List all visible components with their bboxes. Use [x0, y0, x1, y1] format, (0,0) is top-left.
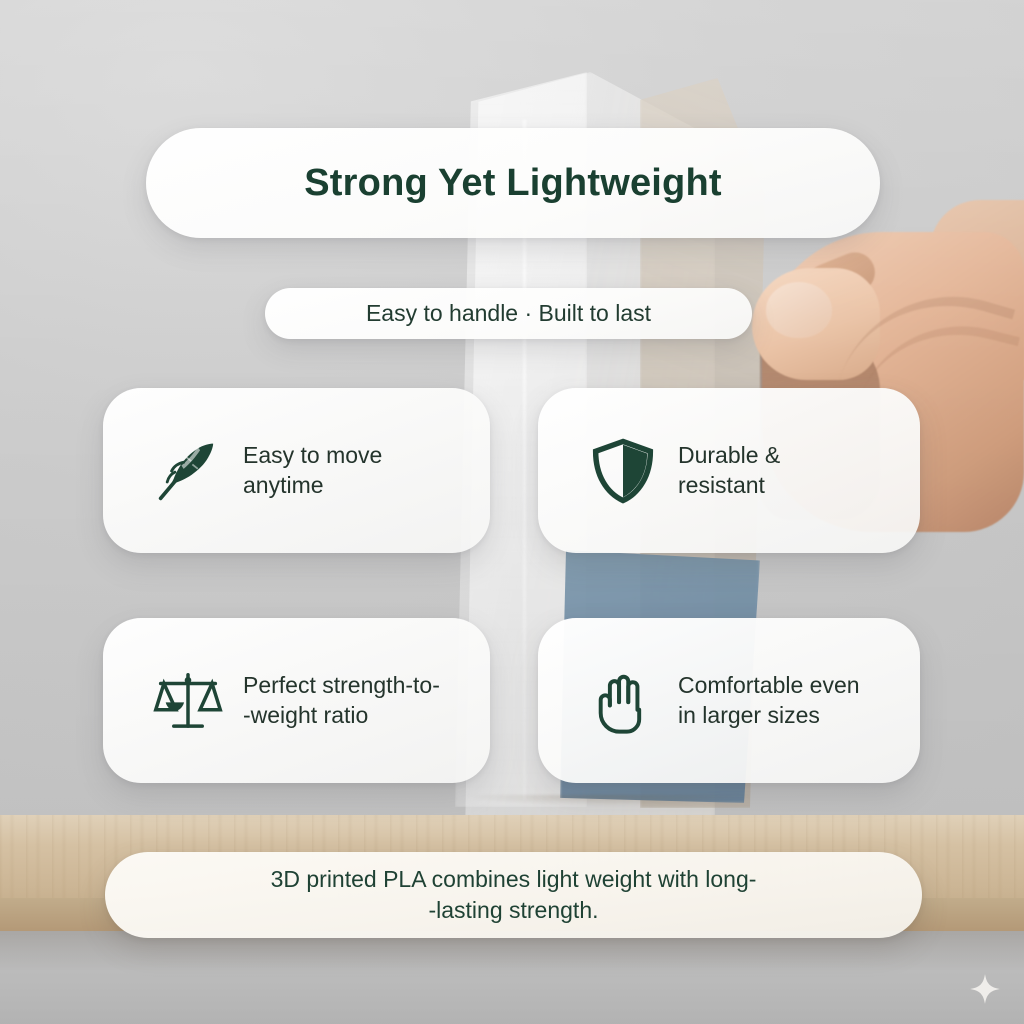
- open-hand-icon: [586, 664, 660, 738]
- feature-card-strength-to-weight[interactable]: Perfect strength-to- -weight ratio: [103, 618, 490, 783]
- feature-card-easy-to-move[interactable]: Easy to move anytime: [103, 388, 490, 553]
- page-subtitle: Easy to handle · Built to last: [366, 300, 651, 327]
- poster-canvas: Strong Yet Lightweight Easy to handle · …: [0, 0, 1024, 1024]
- feature-card-durable[interactable]: Durable & resistant: [538, 388, 920, 553]
- footer-banner: 3D printed PLA combines light weight wit…: [105, 852, 922, 938]
- scales-icon: [151, 664, 225, 738]
- feature-card-comfortable[interactable]: Comfortable even in larger sizes: [538, 618, 920, 783]
- feature-card-label: Comfortable even in larger sizes: [678, 671, 860, 731]
- feature-card-label: Perfect strength-to- -weight ratio: [243, 671, 440, 731]
- footer-description: 3D printed PLA combines light weight wit…: [271, 864, 757, 925]
- page-title: Strong Yet Lightweight: [304, 162, 721, 205]
- subtitle-banner: Easy to handle · Built to last: [265, 288, 752, 339]
- shield-icon: [586, 434, 660, 508]
- sparkle-icon: [968, 972, 1002, 1006]
- feature-card-label: Durable & resistant: [678, 441, 780, 501]
- feather-icon: [151, 434, 225, 508]
- title-banner: Strong Yet Lightweight: [146, 128, 880, 238]
- feature-card-label: Easy to move anytime: [243, 441, 382, 501]
